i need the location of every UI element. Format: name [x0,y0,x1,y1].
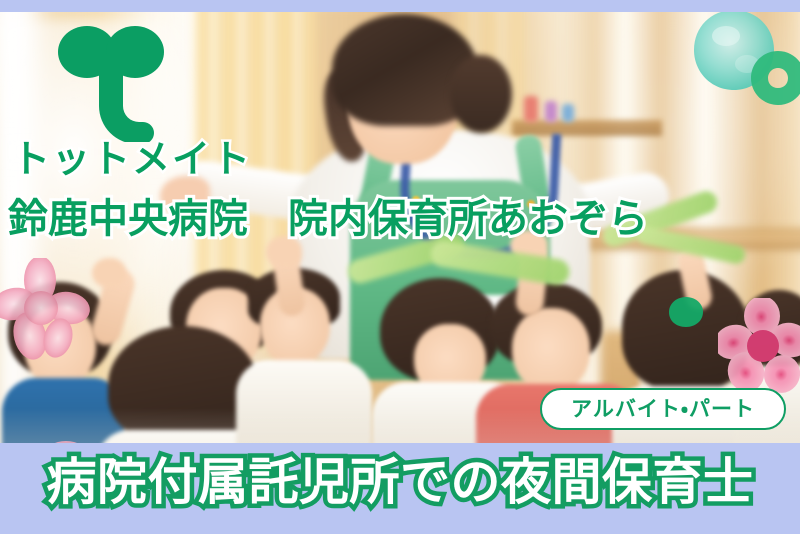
facility-subtitle: 鈴鹿中央病院 院内保育所あおぞら [8,197,648,241]
sprout-logo-icon [57,24,165,142]
top-accent-band [0,0,800,12]
caregiver-hair-bun [450,55,512,133]
cup-red [524,96,538,122]
job-title-headline: 病院付属託児所での夜間保育士 [0,455,800,510]
employment-type-label: アルバイト・パート [571,399,755,420]
cup-blue [562,104,574,122]
employment-type-badge[interactable]: アルバイト・パート [540,388,786,430]
job-posting-banner: トットメイト 鈴鹿中央病院 院内保育所あおぞら アルバイト・パート 病院付属託児… [0,0,800,534]
brand-name: トットメイト [12,141,252,179]
child-1-hand [92,258,126,288]
cup-purple [545,101,557,122]
